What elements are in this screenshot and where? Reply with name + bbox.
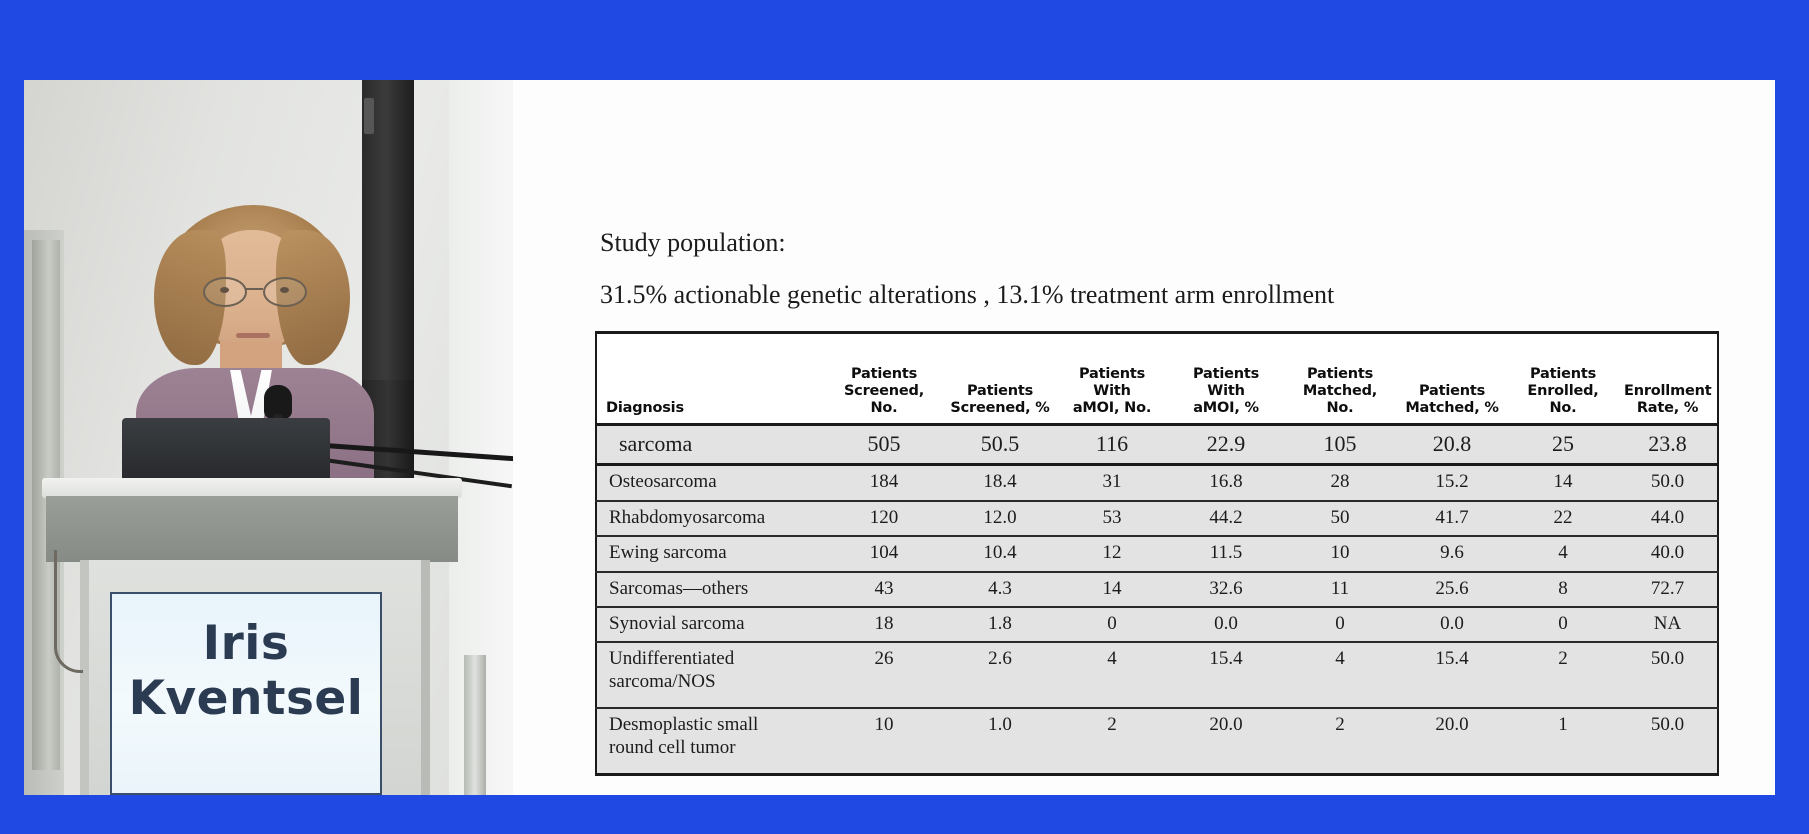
table-cell-patients-matched-pct: 20.8 (1396, 425, 1508, 465)
table-cell-patients-enrolled-no: 4 (1508, 536, 1618, 571)
table-cell-enrollment-rate-pct: 50.0 (1618, 642, 1718, 708)
table-cell-patients-enrolled-no: 8 (1508, 572, 1618, 607)
header-line-2: Matched, % (1402, 400, 1502, 417)
table-cell-patients-screened-no: 18 (824, 607, 944, 642)
header-line-2: Rate, % (1624, 400, 1711, 417)
table-cell-patients-matched-pct: 41.7 (1396, 501, 1508, 536)
table-cell-diagnosis: sarcoma (596, 425, 824, 465)
table-cell-patients-enrolled-no: 14 (1508, 465, 1618, 501)
table-cell-patients-screened-no: 10 (824, 708, 944, 774)
slide-canvas[interactable]: Study population: 31.5% actionable genet… (513, 80, 1775, 795)
table-cell-patients-screened-pct: 2.6 (944, 642, 1056, 708)
table-cell-patients-screened-pct: 12.0 (944, 501, 1056, 536)
table-cell-patients-screened-no: 120 (824, 501, 944, 536)
table-cell-enrollment-rate-pct: NA (1618, 607, 1718, 642)
table-cell-patients-screened-no: 184 (824, 465, 944, 501)
table-cell-enrollment-rate-pct: 50.0 (1618, 465, 1718, 501)
header-line-1: Patients (950, 383, 1050, 400)
table-header-cell: PatientsMatched, No. (1284, 360, 1396, 425)
table-cell-patients-screened-pct: 1.8 (944, 607, 1056, 642)
table-cell-enrollment-rate-pct: 50.0 (1618, 708, 1718, 774)
table-cell-patients-with-amoi-pct: 22.9 (1168, 425, 1284, 465)
table-cell-patients-screened-no: 505 (824, 425, 944, 465)
table-cell-patients-with-amoi-no: 53 (1056, 501, 1168, 536)
table-cell-patients-enrolled-no: 25 (1508, 425, 1618, 465)
header-line-1: Patients (830, 366, 938, 383)
slide-heading-study-population: Study population: (600, 228, 786, 258)
table-row: Synovial sarcoma181.800.000.00NA (596, 607, 1718, 642)
table-cell-patients-matched-no: 0 (1284, 607, 1396, 642)
room-post (464, 655, 486, 795)
table-row: sarcoma50550.511622.910520.82523.8 (596, 425, 1718, 465)
table-cell-patients-matched-pct: 20.0 (1396, 708, 1508, 774)
table-cell-patients-matched-pct: 15.4 (1396, 642, 1508, 708)
table-cell-diagnosis: Rhabdomyosarcoma (596, 501, 824, 536)
table-cell-patients-with-amoi-pct: 0.0 (1168, 607, 1284, 642)
header-line-2: Matched, No. (1290, 383, 1390, 417)
table-row: Sarcomas—others434.31432.61125.6872.7 (596, 572, 1718, 607)
table-header-cell: PatientsEnrolled, No. (1508, 360, 1618, 425)
table-cell-patients-screened-pct: 18.4 (944, 465, 1056, 501)
sarcoma-results-table-container: DiagnosisPatientsScreened, No.PatientsSc… (595, 331, 1683, 776)
podium-surface (42, 478, 462, 498)
table-cell-patients-screened-pct: 1.0 (944, 708, 1056, 774)
table-header-cell: PatientsMatched, % (1396, 360, 1508, 425)
table-cell-diagnosis: Sarcomas—others (596, 572, 824, 607)
table-cell-patients-screened-pct: 50.5 (944, 425, 1056, 465)
table-cell-patients-with-amoi-no: 31 (1056, 465, 1168, 501)
table-cell-patients-enrolled-no: 22 (1508, 501, 1618, 536)
table-body: sarcoma50550.511622.910520.82523.8Osteos… (596, 425, 1718, 775)
table-cell-diagnosis: Ewing sarcoma (596, 536, 824, 571)
table-cell-patients-enrolled-no: 1 (1508, 708, 1618, 774)
table-header-spacer-cell (596, 333, 1718, 361)
table-cell-patients-enrolled-no: 0 (1508, 607, 1618, 642)
table-cell-patients-with-amoi-pct: 15.4 (1168, 642, 1284, 708)
presenter-mouth (236, 333, 270, 338)
table-cell-patients-with-amoi-pct: 16.8 (1168, 465, 1284, 501)
table-header: DiagnosisPatientsScreened, No.PatientsSc… (596, 333, 1718, 425)
table-cell-patients-screened-pct: 10.4 (944, 536, 1056, 571)
header-line-1: Enrollment (1624, 383, 1711, 400)
table-cell-patients-screened-no: 26 (824, 642, 944, 708)
table-header-cell-diagnosis: Diagnosis (596, 360, 824, 425)
glasses-bridge (245, 288, 263, 290)
header-line-1: Patients (1402, 383, 1502, 400)
table-header-cell: Patients WithaMOI, % (1168, 360, 1284, 425)
table-cell-diagnosis: Undifferentiated sarcoma/NOS (596, 642, 824, 708)
header-line-1: Patients (1514, 366, 1612, 383)
table-cell-patients-screened-pct: 4.3 (944, 572, 1056, 607)
table-cell-enrollment-rate-pct: 72.7 (1618, 572, 1718, 607)
slide-text-statistics: 31.5% actionable genetic alterations , 1… (600, 280, 1334, 310)
table-header-cell: EnrollmentRate, % (1618, 360, 1718, 425)
table-cell-patients-with-amoi-pct: 32.6 (1168, 572, 1284, 607)
table-cell-patients-matched-no: 105 (1284, 425, 1396, 465)
table-cell-patients-matched-no: 4 (1284, 642, 1396, 708)
glasses-lens-right (263, 277, 307, 307)
header-line-2: Screened, No. (830, 383, 938, 417)
header-line-2: Screened, % (950, 400, 1050, 417)
table-cell-patients-matched-pct: 25.6 (1396, 572, 1508, 607)
presenter-last-name: Kventsel (129, 671, 364, 726)
table-header-cell: Patients WithaMOI, No. (1056, 360, 1168, 425)
table-cell-patients-with-amoi-no: 4 (1056, 642, 1168, 708)
presentation-stage: Iris Kventsel Study population: 31.5% ac… (0, 0, 1809, 834)
table-row: Undifferentiated sarcoma/NOS262.6415.441… (596, 642, 1718, 708)
table-cell-patients-with-amoi-pct: 44.2 (1168, 501, 1284, 536)
table-cell-patients-with-amoi-no: 116 (1056, 425, 1168, 465)
header-line-1: Patients (1290, 366, 1390, 383)
table-cell-patients-with-amoi-no: 0 (1056, 607, 1168, 642)
table-cell-patients-with-amoi-no: 12 (1056, 536, 1168, 571)
glasses-lens-left (203, 277, 247, 307)
sarcoma-results-table: DiagnosisPatientsScreened, No.PatientsSc… (595, 331, 1719, 776)
table-cell-patients-matched-no: 10 (1284, 536, 1396, 571)
header-line-1: Patients With (1062, 366, 1162, 400)
table-cell-patients-matched-pct: 9.6 (1396, 536, 1508, 571)
table-cell-patients-screened-no: 43 (824, 572, 944, 607)
presenter-laptop (122, 418, 330, 486)
table-header-cell: PatientsScreened, No. (824, 360, 944, 425)
table-cell-enrollment-rate-pct: 44.0 (1618, 501, 1718, 536)
table-row: Ewing sarcoma10410.41211.5109.6440.0 (596, 536, 1718, 571)
header-line-2: aMOI, No. (1062, 400, 1162, 417)
table-cell-patients-with-amoi-pct: 11.5 (1168, 536, 1284, 571)
table-cell-patients-matched-no: 2 (1284, 708, 1396, 774)
podium-upper-band (46, 496, 458, 562)
table-cell-patients-matched-no: 11 (1284, 572, 1396, 607)
table-cell-patients-matched-pct: 0.0 (1396, 607, 1508, 642)
speaker-video-panel[interactable]: Iris Kventsel (24, 80, 514, 795)
presenter-glasses (202, 277, 306, 303)
table-cell-patients-matched-pct: 15.2 (1396, 465, 1508, 501)
presenter-name-sign: Iris Kventsel (110, 592, 382, 795)
av-speaker-column-upper (362, 80, 414, 380)
table-cell-patients-with-amoi-pct: 20.0 (1168, 708, 1284, 774)
table-cell-patients-matched-no: 28 (1284, 465, 1396, 501)
table-row: Osteosarcoma18418.43116.82815.21450.0 (596, 465, 1718, 501)
table-header-cell: PatientsScreened, % (944, 360, 1056, 425)
header-line-2: Enrolled, No. (1514, 383, 1612, 417)
table-cell-enrollment-rate-pct: 23.8 (1618, 425, 1718, 465)
presenter-first-name: Iris (203, 616, 290, 671)
header-line-2: aMOI, % (1174, 400, 1278, 417)
table-cell-patients-screened-no: 104 (824, 536, 944, 571)
table-cell-patients-with-amoi-no: 14 (1056, 572, 1168, 607)
table-header-row: DiagnosisPatientsScreened, No.PatientsSc… (596, 360, 1718, 425)
table-cell-diagnosis: Synovial sarcoma (596, 607, 824, 642)
table-cell-diagnosis: Osteosarcoma (596, 465, 824, 501)
table-row: Desmoplastic small round cell tumor101.0… (596, 708, 1718, 774)
table-cell-diagnosis: Desmoplastic small round cell tumor (596, 708, 824, 774)
header-line-1: Patients With (1174, 366, 1278, 400)
table-cell-enrollment-rate-pct: 40.0 (1618, 536, 1718, 571)
table-cell-patients-matched-no: 50 (1284, 501, 1396, 536)
table-row: Rhabdomyosarcoma12012.05344.25041.72244.… (596, 501, 1718, 536)
floor-cable (54, 550, 83, 673)
table-cell-patients-enrolled-no: 2 (1508, 642, 1618, 708)
table-header-spacer-row (596, 333, 1718, 361)
table-cell-patients-with-amoi-no: 2 (1056, 708, 1168, 774)
